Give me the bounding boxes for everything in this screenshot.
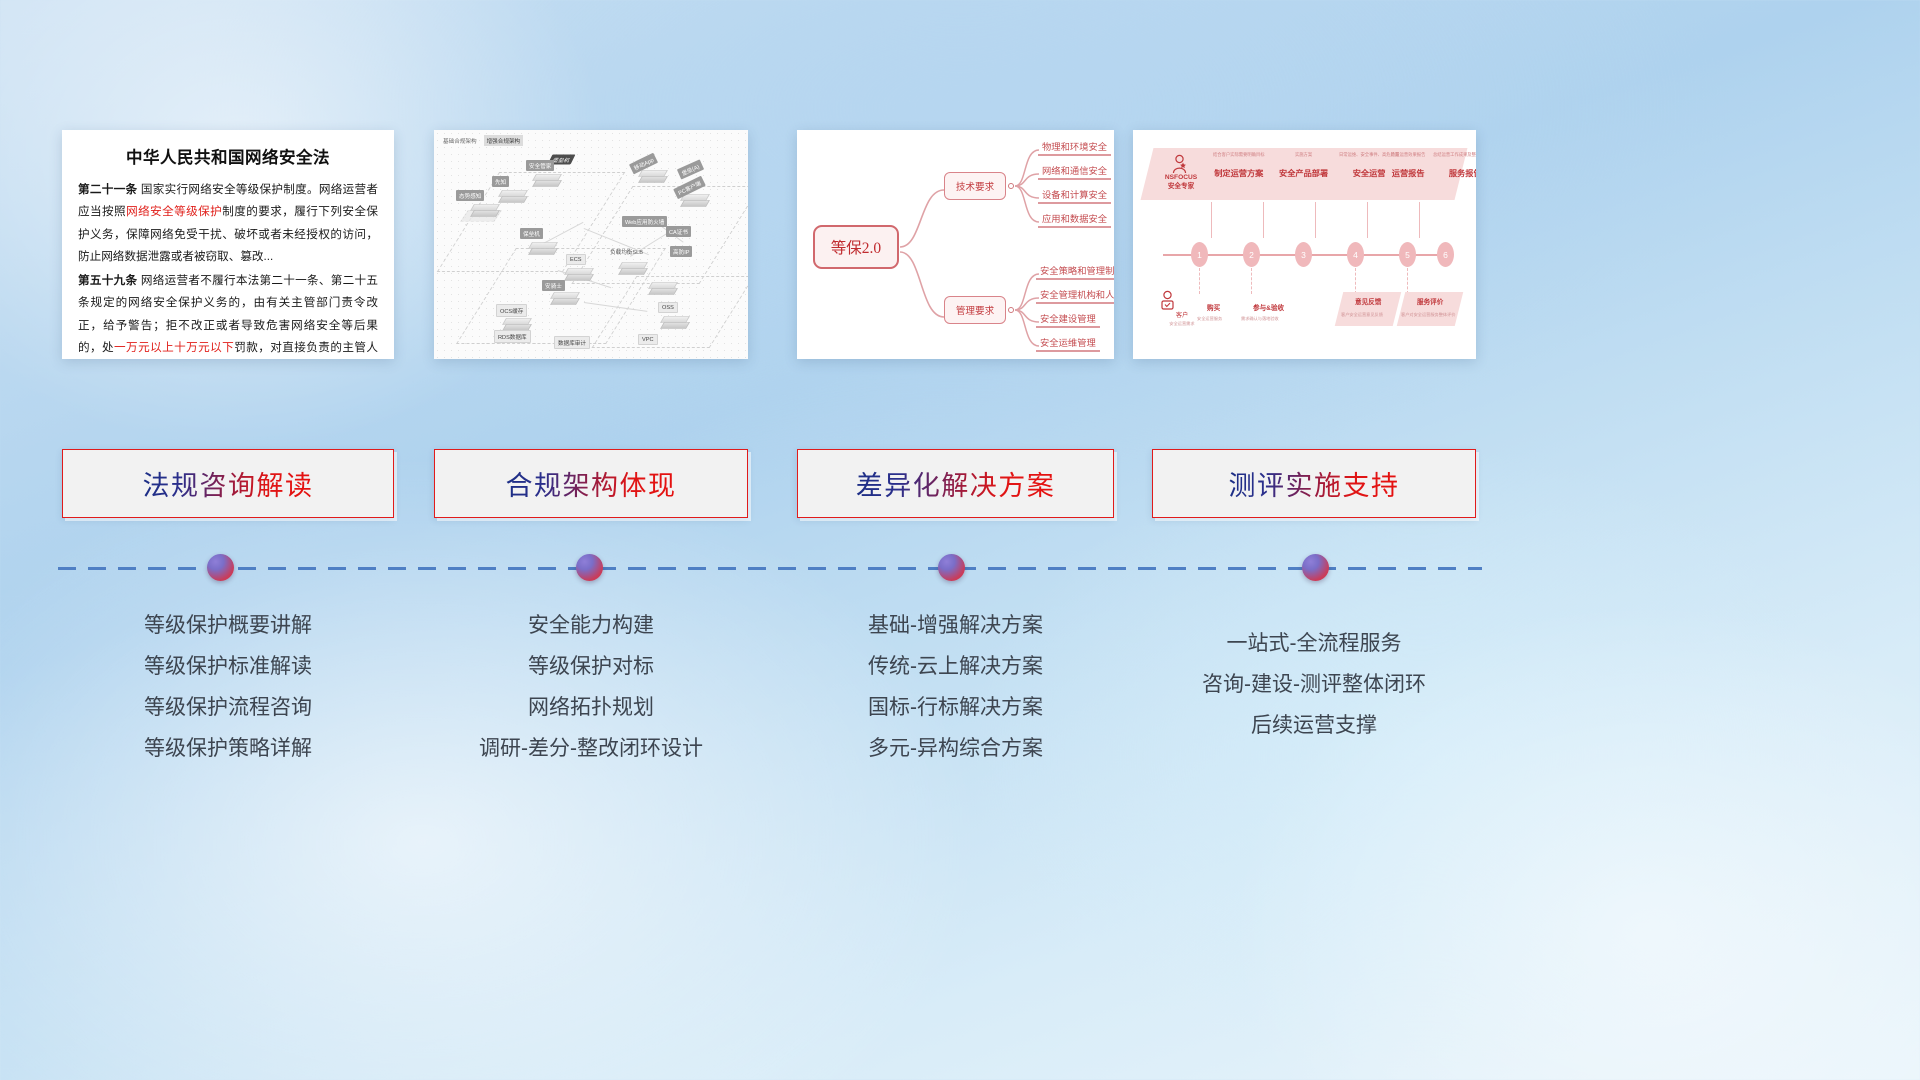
list-item: 等级保护策略详解 <box>62 728 394 769</box>
node-ca-certificate: CA证书 <box>666 226 691 237</box>
mindmap-leaf-network-communication: 网络和通信安全 <box>1038 163 1111 180</box>
nsfocus-number-4: 4 <box>1347 242 1364 267</box>
list-item: 一站式-全流程服务 <box>1152 623 1476 664</box>
nsfocus-step-4-sub: 阶段运营效果报告 <box>1391 152 1425 157</box>
server-icon-9 <box>650 280 676 297</box>
list-item: 等级保护概要讲解 <box>62 605 394 646</box>
tab-basic-compliance[interactable]: 基础合规架构 <box>440 135 480 146</box>
mindmap-leaf-device-computing: 设备和计算安全 <box>1038 187 1111 204</box>
list-item: 等级保护标准解读 <box>62 646 394 687</box>
list-item: 后续运营支撑 <box>1152 705 1476 746</box>
server-icon-2 <box>500 188 526 205</box>
node-anti-ddos-ip: 高防IP <box>670 246 692 257</box>
article-59-label: 第五十九条 <box>78 274 137 287</box>
timeline-dot-2[interactable] <box>576 554 603 581</box>
section-item-lists: 等级保护概要讲解 等级保护标准解读 等级保护流程咨询 等级保护策略详解 安全能力… <box>0 605 1920 805</box>
card-nsfocus-operations[interactable]: NSFOCUS 安全专家 结合客户实际需要明确目标 制定运营方案 实施方案 安全… <box>1133 130 1476 359</box>
server-icon-10 <box>662 314 688 331</box>
nsfocus-tick-3 <box>1315 202 1316 238</box>
tab-enhanced-compliance[interactable]: 增强合规架构 <box>484 135 524 146</box>
customer-icon <box>1159 290 1176 310</box>
server-icon-6 <box>552 290 578 307</box>
section-button-differentiated-solutions[interactable]: 差异化解决方案 <box>797 449 1114 518</box>
node-bastion-host: 保垒机 <box>520 228 543 239</box>
nsfocus-tag-1-sub: 安全运营服务 <box>1197 316 1222 322</box>
nsfocus-number-5: 5 <box>1399 242 1416 267</box>
nsfocus-tag-3: 意见反馈 <box>1355 296 1381 306</box>
server-icon-8 <box>620 260 646 277</box>
node-security-butler: 安全管家 <box>526 160 554 171</box>
server-icon-3 <box>534 172 560 189</box>
section-button-differentiated-solutions-label: 差异化解决方案 <box>856 464 1056 503</box>
article-21-highlight: 网络安全等级保护 <box>126 205 222 218</box>
list-regulation-consulting: 等级保护概要讲解 等级保护标准解读 等级保护流程咨询 等级保护策略详解 <box>62 605 394 769</box>
list-item: 国标-行标解决方案 <box>797 687 1114 728</box>
mindmap-branch-technical: 技术要求 <box>944 172 1006 200</box>
nsfocus-role: 安全专家 <box>1155 183 1207 192</box>
mindmap-leaf-operations-management: 安全运维管理 <box>1036 335 1100 352</box>
nsfocus-expert-label: NSFOCUS 安全专家 <box>1155 174 1207 192</box>
nsfocus-tick-down-2 <box>1251 268 1252 294</box>
nsfocus-tag-3-sub: 客户安全运营意见反馈 <box>1341 312 1383 318</box>
mindmap-root-node: 等保2.0 <box>813 225 899 269</box>
node-ecs: ECS <box>566 254 586 265</box>
nsfocus-tick-down-1 <box>1199 268 1200 294</box>
nsfocus-number-3: 3 <box>1295 242 1312 267</box>
section-button-assessment-support-label: 测评实施支持 <box>1229 464 1400 503</box>
card-cybersecurity-law[interactable]: 中华人民共和国网络安全法 第二十一条 国家实行网络安全等级保护制度。网络运营者应… <box>62 130 394 359</box>
list-item: 等级保护对标 <box>434 646 748 687</box>
server-icon-1 <box>472 202 498 219</box>
nsfocus-step-1: 结合客户实际需要明确目标 制定运营方案 <box>1213 152 1265 179</box>
nsfocus-step-2: 实施方案 安全产品部署 <box>1279 152 1328 179</box>
list-item: 多元-异构综合方案 <box>797 728 1114 769</box>
list-assessment-support: 一站式-全流程服务 咨询-建设-测评整体闭环 后续运营支撑 <box>1152 623 1476 746</box>
nsfocus-tick-2 <box>1263 202 1264 238</box>
nsfocus-tag-1: 购买 <box>1207 302 1220 312</box>
nsfocus-tick-4 <box>1367 202 1368 238</box>
node-vpc: VPC <box>638 334 658 345</box>
nsfocus-diagram: NSFOCUS 安全专家 结合客户实际需要明确目标 制定运营方案 实施方案 安全… <box>1133 130 1476 359</box>
architecture-diagram: 基础合规架构 增强合规架构 堡垒机 态势感知 先知 安全管家 <box>434 130 748 359</box>
list-item: 安全能力构建 <box>434 605 748 646</box>
section-button-regulation-consulting[interactable]: 法规咨询解读 <box>62 449 394 518</box>
mindmap-leaf-application-data: 应用和数据安全 <box>1038 211 1111 228</box>
nsfocus-tick-down-3 <box>1355 268 1356 294</box>
node-prophet: 先知 <box>492 176 509 187</box>
section-buttons-row: 法规咨询解读 合规架构体现 差异化解决方案 测评实施支持 <box>0 449 1920 519</box>
nsfocus-tag-2-sub: 需求确认与落地验收 <box>1241 316 1279 322</box>
nsfocus-step-5-sub: 总结运营工作成果及整体运营效果 <box>1433 152 1476 157</box>
section-button-compliance-architecture-label: 合规架构体现 <box>506 464 677 503</box>
mindmap-branch-management: 管理要求 <box>944 296 1006 324</box>
list-item: 网络拓扑规划 <box>434 687 748 728</box>
law-title: 中华人民共和国网络安全法 <box>78 144 378 168</box>
architecture-tabs[interactable]: 基础合规架构 增强合规架构 <box>440 135 523 146</box>
mindmap-leaf-construction-management: 安全建设管理 <box>1036 311 1100 328</box>
section-button-assessment-support[interactable]: 测评实施支持 <box>1152 449 1476 518</box>
section-button-regulation-consulting-label: 法规咨询解读 <box>143 464 314 503</box>
nsfocus-step-1-sub: 结合客户实际需要明确目标 <box>1213 152 1265 157</box>
nsfocus-number-2: 2 <box>1243 242 1260 267</box>
node-rds-database: RDS数据库 <box>494 330 531 343</box>
nsfocus-step-5: 总结运营工作成果及整体运营效果 服务报告 <box>1433 152 1476 179</box>
dashed-timeline-line <box>58 567 1482 570</box>
nsfocus-tag-4: 服务评价 <box>1417 296 1443 306</box>
node-database-audit: 数据库审计 <box>554 336 590 349</box>
server-icon-5 <box>566 266 592 283</box>
nsfocus-step-5-main: 服务报告 <box>1433 167 1476 179</box>
nsfocus-tick-5 <box>1419 202 1420 238</box>
server-icon-4 <box>530 240 556 257</box>
section-button-compliance-architecture[interactable]: 合规架构体现 <box>434 449 748 518</box>
list-item: 调研-差分-整改闭环设计 <box>434 728 748 769</box>
nsfocus-step-2-main: 安全产品部署 <box>1279 167 1328 179</box>
node-situational-awareness: 态势感知 <box>456 190 484 201</box>
nsfocus-step-1-main: 制定运营方案 <box>1213 167 1265 179</box>
list-differentiated-solutions: 基础-增强解决方案 传统-云上解决方案 国标-行标解决方案 多元-异构综合方案 <box>797 605 1114 769</box>
preview-cards-row: 中华人民共和国网络安全法 第二十一条 国家实行网络安全等级保护制度。网络运营者应… <box>0 0 1920 400</box>
timeline-dot-3[interactable] <box>938 554 965 581</box>
timeline-dot-1[interactable] <box>207 554 234 581</box>
device-icon-mobile <box>640 168 666 185</box>
nsfocus-step-4-main: 运营报告 <box>1391 167 1425 179</box>
timeline-dot-4[interactable] <box>1302 554 1329 581</box>
nsfocus-number-1: 1 <box>1191 242 1208 267</box>
law-document: 中华人民共和国网络安全法 第二十一条 国家实行网络安全等级保护制度。网络运营者应… <box>62 130 394 359</box>
nsfocus-step-2-sub: 实施方案 <box>1279 152 1328 157</box>
list-compliance-architecture: 安全能力构建 等级保护对标 网络拓扑规划 调研-差分-整改闭环设计 <box>434 605 748 769</box>
article-59-penalty-1: 一万元以上十万元以下 <box>114 341 234 354</box>
nsfocus-step-4: 阶段运营效果报告 运营报告 <box>1391 152 1425 179</box>
node-security-knight: 安骑士 <box>542 280 565 291</box>
nsfocus-tick-down-4 <box>1407 268 1408 294</box>
list-item: 传统-云上解决方案 <box>797 646 1114 687</box>
law-article-21: 第二十一条 国家实行网络安全等级保护制度。网络运营者应当按照网络安全等级保护制度… <box>78 179 378 268</box>
nsfocus-tag-2: 参与&验收 <box>1253 302 1284 312</box>
list-item: 等级保护流程咨询 <box>62 687 394 728</box>
mindmap-leaf-security-policy: 安全策略和管理制度 <box>1036 263 1114 280</box>
security-expert-icon <box>1171 154 1188 174</box>
nsfocus-brand: NSFOCUS <box>1155 174 1207 183</box>
article-21-label: 第二十一条 <box>78 183 137 196</box>
node-load-balancer: 负载均衡SLB <box>610 248 643 256</box>
list-item: 基础-增强解决方案 <box>797 605 1114 646</box>
mindmap: 等保2.0 技术要求 物理和环境安全 网络和通信安全 设备和计算安全 应用和数据… <box>797 130 1114 359</box>
node-web-application-firewall: Web应用防火墙 <box>622 216 667 227</box>
mindmap-leaf-security-org-personnel: 安全管理机构和人员 <box>1036 287 1114 304</box>
nsfocus-tick-1 <box>1211 202 1212 238</box>
card-mindmap-dengbao[interactable]: 等保2.0 技术要求 物理和环境安全 网络和通信安全 设备和计算安全 应用和数据… <box>797 130 1114 359</box>
list-item: 咨询-建设-测评整体闭环 <box>1152 664 1476 705</box>
node-oss: OSS <box>658 302 678 313</box>
card-cloud-architecture[interactable]: 基础合规架构 增强合规架构 堡垒机 态势感知 先知 安全管家 <box>434 130 748 359</box>
law-article-59: 第五十九条 网络运营者不履行本法第二十一条、第二十五条规定的网络安全保护义务的，… <box>78 270 378 359</box>
mindmap-leaf-physical-environment: 物理和环境安全 <box>1038 139 1111 156</box>
nsfocus-number-6: 6 <box>1437 242 1454 267</box>
nsfocus-tag-4-sub: 客户对安全运营服务整体评价 <box>1401 312 1455 318</box>
